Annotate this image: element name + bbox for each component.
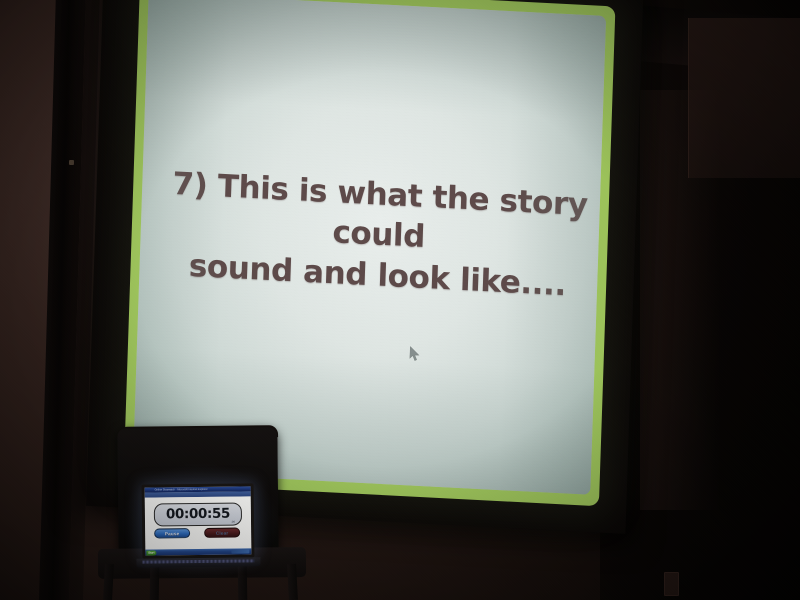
door-frame-highlight [69, 160, 74, 165]
start-button[interactable]: Start [146, 550, 156, 555]
stopwatch-milliseconds: .00 [231, 520, 235, 523]
chair-leg [103, 564, 114, 600]
laptop-keyboard [142, 559, 254, 563]
slide-content-area: 7) This is what the story could sound an… [133, 0, 606, 495]
stopwatch-controls: Pause Clear [154, 527, 240, 538]
wall-outlet [664, 572, 679, 596]
mouse-pointer-icon [410, 346, 421, 362]
laptop-base [136, 557, 260, 568]
clear-button[interactable]: Clear [204, 527, 240, 537]
presentation-room-photo: 7) This is what the story could sound an… [0, 0, 800, 600]
stopwatch-page: 00:00:55 .00 Pause Clear [145, 496, 252, 549]
laptop-lid: Online Stopwatch - Microsoft Internet Ex… [142, 483, 255, 558]
windows-taskbar: Start [145, 548, 251, 555]
stopwatch-time: 00:00:55 [166, 507, 230, 521]
laptop: Online Stopwatch - Microsoft Internet Ex… [142, 483, 255, 558]
system-tray[interactable] [231, 549, 249, 553]
stopwatch-display: 00:00:55 .00 [154, 502, 242, 526]
chair-leg [238, 564, 248, 600]
wall-corner-shadow [640, 90, 720, 510]
chair-leg [150, 564, 160, 600]
chair-leg [287, 564, 298, 600]
laptop-display: Online Stopwatch - Microsoft Internet Ex… [145, 486, 252, 555]
slide-title-text: 7) This is what the story could sound an… [163, 164, 595, 307]
pause-button[interactable]: Pause [154, 528, 190, 538]
